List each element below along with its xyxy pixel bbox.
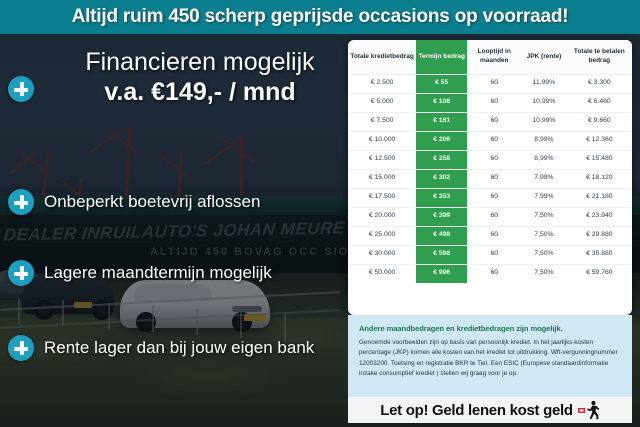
cell-apr: 7,50%: [521, 226, 566, 245]
cell-term: 60: [467, 245, 521, 264]
column-header-apr: JPK (rente): [521, 40, 566, 74]
table-row: € 12.500€ 258608,99%€ 15.480: [348, 150, 632, 169]
cell-total-credit: € 25.000: [348, 226, 416, 245]
cell-total-credit: € 30.000: [348, 245, 416, 264]
cell-total-payable: € 35.880: [567, 245, 632, 264]
plus-icon: [8, 335, 34, 361]
cell-total-payable: € 9.660: [567, 112, 632, 131]
plus-icon: [8, 260, 34, 286]
headline-line-2: v.a. €149,- / mnd: [55, 77, 345, 108]
cell-term: 60: [467, 207, 521, 226]
cell-total-payable: € 21.180: [567, 188, 632, 207]
table-row: € 50.000€ 996607,50%€ 59.760: [348, 264, 632, 282]
cell-term: 60: [467, 150, 521, 169]
cell-apr: 7,99%: [521, 169, 566, 188]
rates-card: Totale kredietbedrag Termijn bedrag Loop…: [348, 40, 632, 315]
cell-monthly-amount: € 55: [416, 74, 467, 93]
left-content: Financieren mogelijk v.a. €149,- / mnd O…: [0, 34, 348, 427]
cell-total-payable: € 3.300: [567, 74, 632, 93]
cell-monthly-amount: € 399: [416, 207, 467, 226]
table-row: € 7.500€ 1616010,99%€ 9.660: [348, 112, 632, 131]
cell-total-credit: € 20.000: [348, 207, 416, 226]
cell-total-payable: € 29.880: [567, 226, 632, 245]
feature-item-3: Rente lager dan bij jouw eigen bank: [8, 335, 348, 361]
plus-icon: [8, 76, 34, 102]
cell-term: 60: [467, 226, 521, 245]
cell-monthly-amount: € 353: [416, 188, 467, 207]
top-banner: Altijd ruim 450 scherp geprijsde occasio…: [0, 0, 640, 34]
column-header-total-payable: Totale te betalen bedrag: [567, 40, 632, 74]
cell-term: 60: [467, 131, 521, 150]
cell-total-credit: € 50.000: [348, 264, 416, 282]
disclaimer-panel: Andere maandbedragen en kredietbedragen …: [348, 315, 632, 397]
loan-warning-strip: Let op! Geld lenen kost geld: [348, 397, 632, 423]
column-header-monthly-amount: Termijn bedrag: [416, 40, 467, 74]
feature-item-1: Onbeperkt boetevrij aflossen: [8, 189, 348, 215]
table-header-row: Totale kredietbedrag Termijn bedrag Loop…: [348, 40, 632, 74]
cell-term: 60: [467, 112, 521, 131]
table-row: € 15.000€ 302607,99%€ 18.120: [348, 169, 632, 188]
cell-total-credit: € 10.000: [348, 131, 416, 150]
cell-total-credit: € 2.500: [348, 74, 416, 93]
table-row: € 5.000€ 1086010,99%€ 6.480: [348, 93, 632, 112]
cell-total-payable: € 59.760: [567, 264, 632, 282]
table-row: € 25.000€ 498607,50%€ 29.880: [348, 226, 632, 245]
loan-warning-text: Let op! Geld lenen kost geld: [380, 402, 572, 419]
column-header-term-months: Looptijd in maanden: [467, 40, 521, 74]
top-banner-text: Altijd ruim 450 scherp geprijsde occasio…: [72, 6, 569, 28]
cell-total-payable: € 6.480: [567, 93, 632, 112]
cell-monthly-amount: € 498: [416, 226, 467, 245]
ad-banner: DEALER INRUILAUTO'S JOHAN MEURE ALTIJD 4…: [0, 0, 640, 427]
cell-monthly-amount: € 302: [416, 169, 467, 188]
table-row: € 20.000€ 399607,50%€ 23.940: [348, 207, 632, 226]
cell-apr: 8,99%: [521, 150, 566, 169]
cell-apr: 7,99%: [521, 188, 566, 207]
rates-table: Totale kredietbedrag Termijn bedrag Loop…: [348, 40, 632, 283]
cell-total-credit: € 12.500: [348, 150, 416, 169]
plus-icon: [8, 189, 34, 215]
feature-item-2: Lagere maandtermijn mogelijk: [8, 260, 348, 286]
cell-apr: 7,50%: [521, 245, 566, 264]
running-man-icon: [578, 400, 600, 420]
cell-term: 60: [467, 74, 521, 93]
cell-apr: 10,99%: [521, 112, 566, 131]
disclaimer-body: Genoemde voorbeelden zijn op basis van p…: [359, 338, 623, 380]
cell-monthly-amount: € 206: [416, 131, 467, 150]
cell-apr: 11,99%: [521, 74, 566, 93]
cell-total-payable: € 18.120: [567, 169, 632, 188]
feature-label: Onbeperkt boetevrij aflossen: [44, 192, 260, 212]
cell-apr: 8,99%: [521, 131, 566, 150]
cell-term: 60: [467, 169, 521, 188]
cell-monthly-amount: € 996: [416, 264, 467, 282]
feature-label: Rente lager dan bij jouw eigen bank: [44, 338, 314, 358]
cell-monthly-amount: € 161: [416, 112, 467, 131]
cell-total-credit: € 5.000: [348, 93, 416, 112]
cell-total-credit: € 15.000: [348, 169, 416, 188]
disclaimer-title: Andere maandbedragen en kredietbedragen …: [359, 324, 623, 333]
table-row: € 30.000€ 598607,50%€ 35.880: [348, 245, 632, 264]
feature-label: Lagere maandtermijn mogelijk: [44, 263, 272, 283]
cell-total-payable: € 12.360: [567, 131, 632, 150]
table-row: € 2.500€ 556011,99%€ 3.300: [348, 74, 632, 93]
cell-term: 60: [467, 264, 521, 282]
cell-monthly-amount: € 598: [416, 245, 467, 264]
cell-apr: 10,99%: [521, 93, 566, 112]
headline-line-1: Financieren mogelijk: [55, 49, 345, 77]
table-row: € 10.000€ 206608,99%€ 12.360: [348, 131, 632, 150]
cell-term: 60: [467, 93, 521, 112]
cell-total-credit: € 7.500: [348, 112, 416, 131]
cell-total-credit: € 17.500: [348, 188, 416, 207]
cell-monthly-amount: € 108: [416, 93, 467, 112]
table-row: € 17.500€ 353607,99%€ 21.180: [348, 188, 632, 207]
column-header-total-credit: Totale kredietbedrag: [348, 40, 416, 74]
cell-apr: 7,50%: [521, 207, 566, 226]
cell-apr: 7,50%: [521, 264, 566, 282]
cell-total-payable: € 15.480: [567, 150, 632, 169]
cell-total-payable: € 23.940: [567, 207, 632, 226]
headline: Financieren mogelijk v.a. €149,- / mnd: [55, 49, 345, 108]
cell-term: 60: [467, 188, 521, 207]
cell-monthly-amount: € 258: [416, 150, 467, 169]
